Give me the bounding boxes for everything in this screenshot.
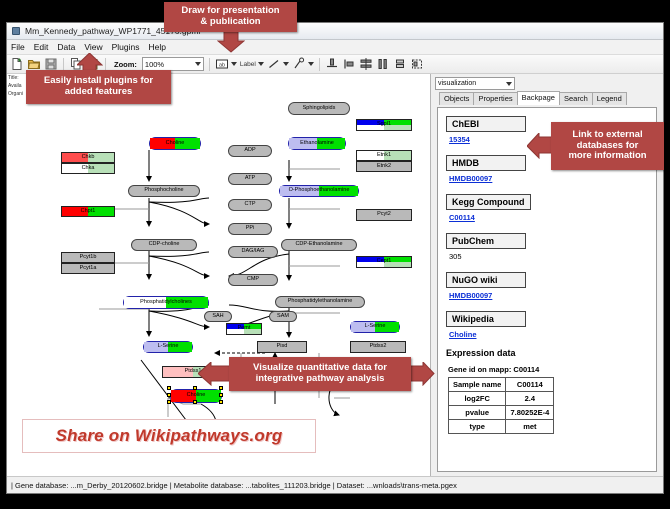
node-label: CDP-choline [149,242,180,248]
plugins-callout-text: Easily install plugins for added feature… [44,76,153,98]
menu-item-plugins[interactable]: Plugins [112,42,140,52]
pathway-node-cept1[interactable]: Cept1 [356,256,412,268]
selection-handle-4[interactable] [219,393,223,397]
node-label: SAH [212,314,223,320]
pathway-node-adp[interactable]: ADP [228,145,272,157]
chevron-down-icon [195,62,201,66]
open-icon[interactable] [27,57,41,71]
node-label: Ptdss2 [370,344,387,350]
chevron-down-icon [283,62,289,66]
node-label: Pemt [238,326,251,332]
node-label: PPi [246,226,255,232]
pathway-node-phosphatidylethanolamine[interactable]: Phosphatidylethanolamine [275,296,365,308]
app-icon [11,26,21,36]
visualization-row: visualization [431,74,663,91]
pathway-node-cdp-choline[interactable]: CDP-choline [131,239,197,251]
visualize-callout-text: Visualize quantitative data for integrat… [253,363,387,385]
gene-id-note: Gene id on mapp: C00114 [448,365,648,374]
pathway-node-o-phosphoethanolamine[interactable]: O-Phosphoethanolamine [279,185,359,197]
menu-item-file[interactable]: File [11,42,25,52]
node-label: Sphingolipids [303,106,336,112]
cell-value: 2.4 [506,392,554,406]
node-label: Chpt1 [81,209,96,215]
table-row: Sample name C00114 [449,378,554,392]
backpage-link-kegg[interactable]: C00114 [449,213,648,222]
svg-text:ab: ab [219,62,225,68]
node-label: Pcyt2 [377,212,391,218]
selection-handle-5[interactable] [167,400,171,404]
share-banner: Share on Wikipathways.org [22,419,316,453]
draw-callout: Draw for presentation & publication [164,2,297,32]
pathway-node-pcyt2[interactable]: Pcyt2 [356,209,412,221]
zoom-value: 100% [145,60,164,69]
cell-key: log2FC [449,392,506,406]
pathway-node-atp[interactable]: ATP [228,173,272,185]
tab-backpage[interactable]: Backpage [517,91,560,105]
interaction-icon[interactable] [292,57,306,71]
save-icon[interactable] [44,57,58,71]
selection-handle-6[interactable] [193,400,197,404]
pathway-edges [23,74,431,476]
node-label: Choline [166,141,185,147]
sidebar-row-organism: Organi [7,90,23,98]
pathway-node-sphingolipids[interactable]: Sphingolipids [288,102,350,115]
cell-key: Sample name [449,378,506,392]
cell-value: C00114 [506,378,554,392]
pathway-node-sam[interactable]: SAM [269,311,297,322]
chevron-down-icon [506,82,512,86]
node-label: Phosphocholine [144,188,183,194]
backpage-value-pubchem: 305 [449,252,648,261]
pathway-node-etnk2[interactable]: Etnk2 [356,161,412,172]
node-label: Choline [187,393,206,399]
node-label: Pcyt1a [80,266,97,272]
chevron-down-icon [231,62,237,66]
menu-bar: File Edit Data View Plugins Help [7,40,663,55]
node-label: DAG/IAG [242,249,265,255]
distribute-horizontal-icon[interactable] [376,57,390,71]
node-label: Chka [82,166,95,172]
toolbar-separator-3 [209,58,210,71]
node-label: SAM [277,314,289,320]
pathway-canvas[interactable]: SphingolipidsCholineEthanolamineADPATPPh… [23,74,430,476]
visualization-combo[interactable]: visualization [435,77,515,90]
pathway-node-pcyt1a[interactable]: Pcyt1a [61,263,115,274]
menu-item-help[interactable]: Help [149,42,166,52]
node-label: Etnk2 [377,164,391,170]
backpage-heading-chebi: ChEBI [446,116,526,132]
zoom-combo[interactable]: 100% [142,57,204,71]
chevron-down-icon [258,62,264,66]
pathway-node-dag/iag[interactable]: DAG/IAG [228,246,278,258]
pathway-node-ptdss2[interactable]: Ptdss2 [350,341,406,353]
tab-legend[interactable]: Legend [592,92,627,105]
tab-objects[interactable]: Objects [439,92,474,105]
node-label: Sgpl1 [377,122,391,128]
pathway-editor-pane[interactable]: Title: Availa Organi [7,74,431,476]
backpage-heading-hmdb: HMDB [446,155,526,171]
expression-data-table: Sample name C00114 log2FC 2.4 pvalue 7.8… [448,377,554,434]
link-callout-arrow [527,133,553,159]
toolbar-separator-1 [63,58,64,71]
group-icon[interactable] [410,57,424,71]
backpage-link-nugo[interactable]: HMDB00097 [449,291,648,300]
expression-data-heading: Expression data [446,348,648,358]
backpage-link-hmdb[interactable]: HMDB00097 [449,174,648,183]
side-panel-tabs: Objects Properties Backpage Search Legen… [431,91,663,105]
table-row: log2FC 2.4 [449,392,554,406]
pathway-node-chka[interactable]: Chka [61,163,115,174]
node-label: CMP [247,277,259,283]
pathway-node-sah[interactable]: SAH [204,311,232,322]
align-top-icon[interactable] [325,57,339,71]
share-banner-text: Share on Wikipathways.org [56,426,283,446]
visualization-value: visualization [438,80,476,87]
node-label: Cept1 [377,259,392,265]
label-tool-text: Label [240,61,256,68]
pathway-node-pisd[interactable]: Pisd [257,341,307,353]
cell-value: met [506,420,554,434]
line-icon[interactable] [267,57,281,71]
cell-key: type [449,420,506,434]
title-bar: Mm_Kennedy_pathway_WP1771_45176.gpml [7,23,663,40]
pathway-node-ctp[interactable]: CTP [228,199,272,211]
align-left-icon[interactable] [342,57,356,71]
datanode-tool[interactable]: ab [215,57,237,71]
node-label: CTP [245,202,256,208]
pathway-node-cdp-ethanolamine[interactable]: CDP-Ethanolamine [281,239,357,251]
datanode-icon[interactable]: ab [215,57,229,71]
node-label: ATP [245,176,255,182]
node-label: Pisd [277,344,288,350]
backpage-link-wikipedia[interactable]: Choline [449,330,648,339]
sidebar-row-title: Title: [7,74,23,82]
label-tool[interactable]: Label [240,61,264,68]
menu-item-data[interactable]: Data [57,42,75,52]
link-callout: Link to external databases for more info… [551,122,664,170]
node-label: ADP [244,148,255,154]
tab-search[interactable]: Search [559,92,593,105]
properties-sidebar: Title: Availa Organi [7,74,23,476]
line-tool[interactable] [267,57,289,71]
new-icon[interactable] [10,57,24,71]
backpage-heading-wikipedia: Wikipedia [446,311,526,327]
selection-handle-1[interactable] [193,386,197,390]
node-label: Chkb [82,155,95,161]
menu-item-view[interactable]: View [84,42,102,52]
toolbar-separator-2 [105,58,106,71]
distribute-vertical-icon[interactable] [359,57,373,71]
status-bar: | Gene database: ...m_Derby_20120602.bri… [7,476,663,493]
pathway-node-l-serine-left[interactable]: L-Serine [143,341,193,353]
pathway-node-pcyt1b[interactable]: Pcyt1b [61,252,115,263]
selection-handle-3[interactable] [167,393,171,397]
node-label: Ethanolamine [300,141,334,147]
pathway-node-chkb[interactable]: Chkb [61,152,115,163]
pathway-node-ppi[interactable]: PPi [228,223,272,235]
node-label: Etnk1 [377,153,391,159]
pathway-node-sgpl1[interactable]: Sgpl1 [356,119,412,131]
draw-callout-arrow [217,31,245,53]
node-label: L-Serine [365,324,386,330]
status-text: | Gene database: ...m_Derby_20120602.bri… [11,481,457,490]
visualize-callout-arrow-right [409,362,435,386]
pathway-node-chpt1[interactable]: Chpt1 [61,206,115,217]
pathway-node-phosphatidylcholines[interactable]: Phosphatidylcholines [123,296,209,309]
tab-properties[interactable]: Properties [473,92,517,105]
node-label: L-Serine [158,344,179,350]
interaction-tool[interactable] [292,57,314,71]
draw-callout-text: Draw for presentation & publication [181,6,279,28]
backpage-heading-pubchem: PubChem [446,233,526,249]
zoom-label: Zoom: [114,60,137,69]
node-label: Phosphatidylcholines [140,300,192,306]
visualize-callout-arrow-left [198,362,231,386]
node-label: Phosphatidylethanolamine [288,299,353,305]
node-label: O-Phosphoethanolamine [289,188,350,194]
link-callout-text: Link to external databases for more info… [568,130,646,163]
pathway-node-choline-top[interactable]: Choline [149,137,201,150]
stack-icon[interactable] [393,57,407,71]
node-label: CDP-Ethanolamine [295,242,342,248]
screenshot-root: Mm_Kennedy_pathway_WP1771_45176.gpml Fil… [0,0,670,509]
backpage-heading-kegg: Kegg Compound [446,194,531,210]
selection-handle-2[interactable] [219,386,223,390]
menu-item-edit[interactable]: Edit [34,42,49,52]
pathway-node-etnk1[interactable]: Etnk1 [356,150,412,161]
cell-key: pvalue [449,406,506,420]
pathway-node-cmp[interactable]: CMP [228,274,278,286]
plugins-callout: Easily install plugins for added feature… [26,70,171,104]
table-row: type met [449,420,554,434]
node-label: Pcyt1b [80,255,97,261]
backpage-heading-nugo: NuGO wiki [446,272,526,288]
visualize-callout: Visualize quantitative data for integrat… [229,357,411,391]
pathway-node-l-serine-right[interactable]: L-Serine [350,321,400,333]
selection-handle-0[interactable] [167,386,171,390]
chevron-down-icon [308,62,314,66]
pathway-node-pemt[interactable]: Pemt [226,323,262,335]
table-row: pvalue 7.80252E-4 [449,406,554,420]
selection-handle-7[interactable] [219,400,223,404]
pathway-node-ethanolamine-top[interactable]: Ethanolamine [288,137,346,150]
cell-value: 7.80252E-4 [506,406,554,420]
sidebar-row-availab: Availa [7,82,23,90]
pathway-node-phosphocholine[interactable]: Phosphocholine [128,185,200,197]
toolbar-separator-4 [319,58,320,71]
